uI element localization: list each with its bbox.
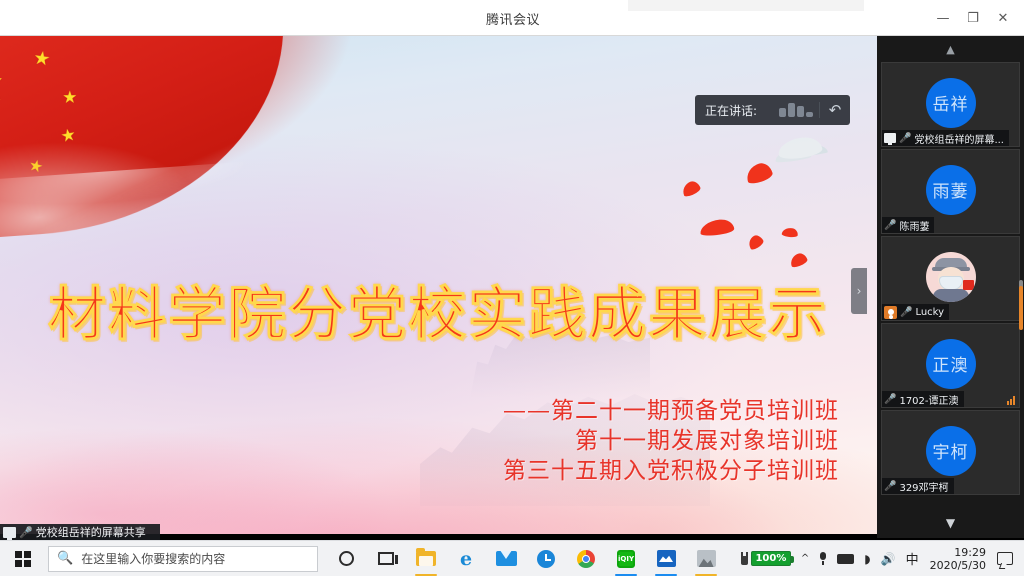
shared-screen-stage[interactable]: ★ ★ ★ ★ ★ 材料学院分党校实践成果展示 ——第二十一期预备党员培训班 第… <box>0 36 877 538</box>
participant-namebar: 🎤 陈雨萋 <box>882 217 934 233</box>
slide-headline: 材料学院分党校实践成果展示 <box>48 285 848 343</box>
taskbar-icons: e iQIY <box>326 541 726 576</box>
red-flag-icon <box>963 280 974 290</box>
dove-icon <box>777 135 823 161</box>
notification-icon[interactable] <box>992 541 1020 576</box>
participant-tile-list[interactable]: 岳祥 🎤 党校组岳祥的屏幕... 雨萋 🎤 陈雨萋 <box>877 62 1024 532</box>
avatar: 雨萋 <box>926 165 976 215</box>
iqiyi-icon[interactable]: iQIY <box>606 541 646 576</box>
china-flag-graphic: ★ ★ ★ ★ ★ <box>0 36 297 239</box>
participant-name: 1702-谭正澳 <box>899 392 958 407</box>
participant-tile[interactable]: 正澳 🎤 1702-谭正澳 <box>881 323 1020 408</box>
clock-app-icon[interactable] <box>526 541 566 576</box>
participant-name: Lucky <box>915 307 944 318</box>
titlebar-peek-strip <box>628 0 864 11</box>
screen-share-icon <box>3 527 16 538</box>
undo-arrow-icon[interactable]: ↶ <box>820 95 850 125</box>
close-button[interactable]: ✕ <box>988 4 1018 32</box>
windows-taskbar: 🔍 在这里输入你要搜索的内容 e iQIY 100% ^ <box>0 540 1024 576</box>
avatar: 宇柯 <box>926 426 976 476</box>
active-speaker-label: 正在讲话: <box>705 102 757 119</box>
participant-namebar: 🎤 329邓宇柯 <box>882 478 954 494</box>
slide-subtitle-line-2: 第十一期发展对象培训班 <box>503 426 839 456</box>
participant-namebar: 🎤 Lucky <box>882 304 949 320</box>
volume-icon[interactable]: 🔊 <box>876 541 901 576</box>
participant-name: 党校组岳祥的屏幕... <box>914 131 1004 146</box>
clock-date: 2020/5/30 <box>930 559 986 572</box>
slide-subtitle-line-3: 第三十五期入党积极分子培训班 <box>503 456 839 486</box>
chevron-down-icon[interactable]: ▼ <box>877 512 1024 534</box>
host-badge-icon <box>884 306 897 319</box>
keyboard-icon[interactable] <box>832 541 859 576</box>
mic-muted-icon: 🎤 <box>899 133 911 144</box>
task-view-icon[interactable] <box>366 541 406 576</box>
cortana-circle-icon[interactable] <box>326 541 366 576</box>
body-shape <box>933 289 969 302</box>
audio-waveform-icon <box>779 103 819 117</box>
avatar-illustration <box>926 252 976 302</box>
flag-star-small-1: ★ <box>32 49 52 70</box>
wifi-icon[interactable]: ◗ <box>859 541 875 576</box>
taskbar-clock[interactable]: 19:29 2020/5/30 <box>924 546 992 572</box>
battery-percent: 100% <box>755 553 786 564</box>
window-title: 腾讯会议 <box>486 9 540 28</box>
participant-tile[interactable]: 雨萋 🎤 陈雨萋 <box>881 149 1020 234</box>
system-tray: 100% ^ ◗ 🔊 中 19:29 2020/5/30 <box>735 541 1024 576</box>
mic-muted-icon: 🎤 <box>884 394 896 405</box>
microphone-icon[interactable] <box>814 541 832 576</box>
avatar: 岳祥 <box>926 78 976 128</box>
chevron-right-icon[interactable]: › <box>851 268 867 314</box>
plug-icon <box>740 552 749 565</box>
screen-share-status-bar: 🎤 党校组岳祥的屏幕共享 <box>0 524 160 540</box>
flag-star-small-2: ★ <box>62 90 77 107</box>
participant-rail: ▲ 岳祥 🎤 党校组岳祥的屏幕... 雨萋 🎤 陈雨萋 <box>877 36 1024 538</box>
participant-name: 陈雨萋 <box>899 218 929 233</box>
participant-name: 329邓宇柯 <box>899 479 948 494</box>
tray-overflow-chevron-icon[interactable]: ^ <box>796 541 814 576</box>
slide-subtitle-block: ——第二十一期预备党员培训班 第十一期发展对象培训班 第三十五期入党积极分子培训… <box>503 396 839 486</box>
file-explorer-icon[interactable] <box>406 541 446 576</box>
signal-strength-icon <box>1007 396 1015 405</box>
flying-birds-graphic <box>660 132 877 252</box>
participant-tile[interactable]: 岳祥 🎤 党校组岳祥的屏幕... <box>881 62 1020 147</box>
participant-tile[interactable]: 宇柯 🎤 329邓宇柯 <box>881 410 1020 495</box>
edge-browser-icon[interactable]: e <box>446 541 486 576</box>
search-placeholder: 在这里输入你要搜索的内容 <box>81 550 225 567</box>
avatar: 正澳 <box>926 339 976 389</box>
search-icon: 🔍 <box>57 551 73 566</box>
mic-muted-icon: 🎤 <box>884 481 896 492</box>
chrome-browser-icon[interactable] <box>566 541 606 576</box>
participant-namebar: 🎤 1702-谭正澳 <box>882 391 964 407</box>
minimize-button[interactable]: — <box>928 4 958 32</box>
flag-star-large: ★ <box>0 59 11 114</box>
screen-share-status-text: 党校组岳祥的屏幕共享 <box>36 524 146 540</box>
search-input[interactable]: 🔍 在这里输入你要搜索的内容 <box>48 546 318 572</box>
mic-muted-icon: 🎤 <box>19 526 33 539</box>
tencent-meeting-icon[interactable] <box>646 541 686 576</box>
mic-muted-icon: 🎤 <box>900 307 912 318</box>
screen-share-icon <box>884 133 896 143</box>
battery-charging-icon[interactable]: 100% <box>735 541 796 576</box>
ime-indicator[interactable]: 中 <box>901 541 924 576</box>
flag-star-small-4: ★ <box>27 157 45 176</box>
rail-scrollbar-thumb[interactable] <box>1019 286 1023 330</box>
avatar <box>926 252 976 302</box>
photo-viewer-icon[interactable] <box>686 541 726 576</box>
chevron-up-icon[interactable]: ▲ <box>877 36 1024 62</box>
windows-start-icon[interactable] <box>0 541 46 576</box>
clock-time: 19:29 <box>954 546 986 559</box>
mail-icon[interactable] <box>486 541 526 576</box>
mic-muted-icon: 🎤 <box>884 220 896 231</box>
window-controls: — ❐ ✕ <box>928 0 1018 36</box>
flag-star-small-3: ★ <box>59 127 77 146</box>
active-speaker-indicator[interactable]: 正在讲话: ↶ <box>695 95 850 125</box>
slide-subtitle-line-1: ——第二十一期预备党员培训班 <box>503 396 839 426</box>
participant-namebar: 🎤 党校组岳祥的屏幕... <box>882 130 1009 146</box>
windows-logo <box>15 551 31 567</box>
participant-tile[interactable]: 🎤 Lucky <box>881 236 1020 321</box>
maximize-button[interactable]: ❐ <box>958 4 988 32</box>
window-titlebar: 腾讯会议 — ❐ ✕ <box>0 0 1024 36</box>
